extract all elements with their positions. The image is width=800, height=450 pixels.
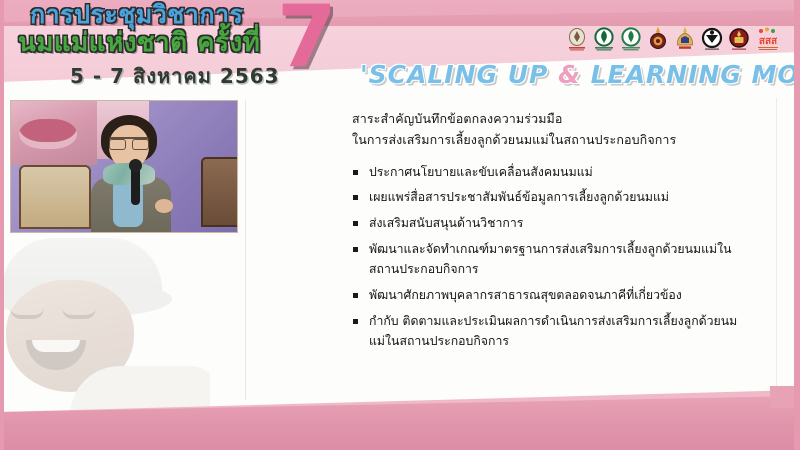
tagline-suffix: LEARNING MORE' [581, 60, 800, 89]
tagline-prefix: 'SCALING UP [360, 60, 558, 89]
list-item: พัฒนาและจัดทำเกณฑ์มาตรฐานการส่งเสริมการเ… [352, 240, 752, 280]
conference-title-line1: การประชุมวิชาการ [14, 2, 314, 27]
slide-right-edge [794, 0, 800, 450]
bottom-pink-ribbon [0, 386, 800, 450]
lead-paragraph: สาระสำคัญบันทึกข้อตกลงความร่วมมือ ในการส… [352, 108, 752, 151]
slide-left-edge [0, 0, 4, 450]
speaker-hand [155, 199, 173, 213]
svg-text:สสส: สสส [759, 36, 778, 47]
list-item: กำกับ ติดตามและประเมินผลการดำเนินการส่งเ… [352, 312, 752, 352]
lead-line-1: สาระสำคัญบันทึกข้อตกลงความร่วมมือ [352, 108, 752, 129]
department-of-health-logo [620, 26, 642, 52]
handheld-microphone [131, 165, 140, 205]
slide-body-text: สาระสำคัญบันทึกข้อตกลงความร่วมมือ ในการส… [352, 108, 752, 358]
speaker-video-thumbnail[interactable] [10, 100, 238, 233]
edition-number-seven: 7 [277, 0, 337, 80]
ministry-of-public-health-logo [593, 26, 615, 52]
list-item: ประกาศนโยบายและขับเคลื่อนสังคมนมแม่ [352, 163, 752, 183]
list-item: เผยแพร่สื่อสารประชาสัมพันธ์ข้อมูลการเลี้… [352, 188, 752, 208]
black-circle-emblem-logo [701, 26, 723, 52]
list-item: พัฒนาศักยภาพบุคลากรสาธารณสุขตลอดจนภาคีที… [352, 286, 752, 306]
conference-title-line2: นมแม่แห่งชาติ ครั้งที่ [14, 30, 314, 56]
list-item: ส่งเสริมสนับสนุนด้านวิชาการ [352, 214, 752, 234]
speaker-figure [83, 115, 179, 233]
ribbon-main-layer [0, 396, 800, 450]
thai-crown-emblem-logo [647, 26, 669, 52]
conference-tagline: 'SCALING UP & LEARNING MORE' [360, 60, 800, 89]
red-circle-emblem-logo [728, 26, 750, 52]
content-right-edge [776, 98, 777, 406]
poster-smile-detail [19, 119, 77, 149]
armchair-left [19, 165, 91, 229]
thaihealth-sss-logo: สสส [755, 26, 777, 52]
presentation-slide: การประชุมวิชาการ นมแม่แห่งชาติ ครั้งที่ … [0, 0, 800, 450]
garuda-emblem-logo [674, 26, 696, 52]
sponsor-logo-row: สสส [566, 26, 777, 52]
lead-line-2: ในการส่งเสริมการเลี้ยงลูกด้วยนมแม่ในสถาน… [352, 129, 752, 150]
armchair-right [201, 157, 238, 227]
speaker-glasses [109, 137, 149, 146]
agreement-bullet-list: ประกาศนโยบายและขับเคลื่อนสังคมนมแม่ เผยแ… [352, 163, 752, 352]
conference-date: 5 - 7 สิงหาคม 2563 [14, 60, 314, 92]
royal-seal-logo [566, 26, 588, 52]
content-vertical-divider [245, 100, 246, 400]
ribbon-corner-notch [770, 386, 794, 408]
tagline-ampersand: & [558, 60, 581, 89]
conference-title-block: การประชุมวิชาการ นมแม่แห่งชาติ ครั้งที่ … [14, 2, 314, 92]
